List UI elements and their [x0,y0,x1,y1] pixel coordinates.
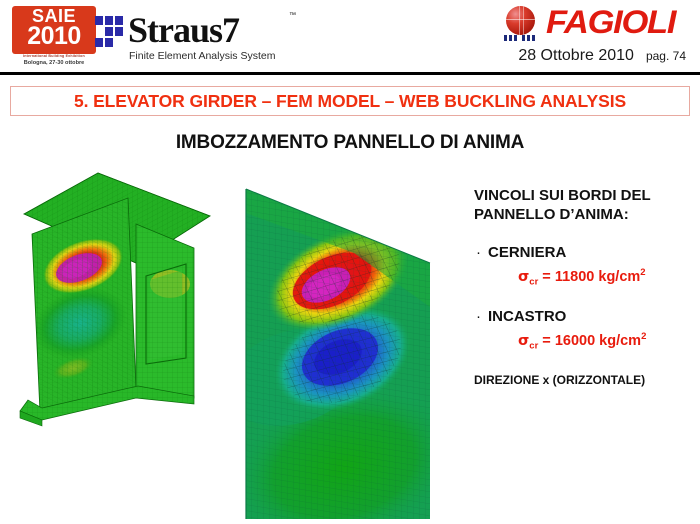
header-date-page: 28 Ottobre 2010pag. 74 [518,47,686,65]
sigma-subscript: cr [529,277,538,288]
header-date: 28 Ottobre 2010 [518,47,634,64]
sigma-unit: kg/cm [599,333,641,349]
sigma-symbol: σ [518,333,529,349]
constraints-heading-line1: VINCOLI SUI BORDI DEL [474,186,694,205]
saie-logo-subtitle: International Building Exhibition [12,54,96,58]
slide-title-box: 5. ELEVATOR GIRDER – FEM MODEL – WEB BUC… [10,86,690,116]
sigma-symbol: σ [518,269,529,285]
globe-base-icon [504,35,538,41]
fem-box-girder-3d [18,168,218,430]
sigma-value: 11800 [555,269,595,285]
fagioli-name: FAGIOLI [546,4,675,41]
list-item: · CERNIERA [474,244,694,262]
direction-note: DIREZIONE x (ORIZZONTALE) [474,373,694,387]
straus7-tagline: Finite Element Analysis System [129,50,275,62]
globe-icon [506,6,535,35]
sigma-cr-value-cerniera: σcr = 11800 kg/cm2 [518,267,694,288]
slide-header: SAIE 2010 International Building Exhibit… [0,0,700,74]
sigma-unit-exponent: 2 [640,267,645,278]
straus7-name: Straus7 [128,9,239,51]
fem-web-panel-svg [234,167,434,519]
header-page-number: pag. 74 [646,49,686,63]
sigma-subscript: cr [529,340,538,351]
fem-web-panel-closeup [234,167,434,519]
list-item: · INCASTRO [474,308,694,326]
saie-logo-year: 2010 [12,23,96,49]
straus7-logo: Straus7 ™ Finite Element Analysis System [95,8,315,68]
bullet-icon: · [474,308,488,326]
equals-sign: = [538,269,555,285]
sigma-unit-exponent: 2 [641,331,646,342]
constraints-panel: VINCOLI SUI BORDI DEL PANNELLO D’ANIMA: … [474,186,694,387]
saie-logo: SAIE 2010 International Building Exhibit… [12,6,96,68]
slide-root: SAIE 2010 International Building Exhibit… [0,0,700,524]
page-title: 5. ELEVATOR GIRDER – FEM MODEL – WEB BUC… [74,91,626,112]
constraints-heading: VINCOLI SUI BORDI DEL PANNELLO D’ANIMA: [474,186,694,224]
constraint-label-incastro: INCASTRO [488,308,566,326]
fem-box-girder-svg [18,168,218,430]
bullet-icon: · [474,244,488,262]
trademark-icon: ™ [289,12,296,19]
constraints-heading-line2: PANNELLO D’ANIMA: [474,205,694,224]
straus7-grid-icon [95,16,125,48]
constraint-label-cerniera: CERNIERA [488,244,566,262]
sigma-unit: kg/cm [598,269,640,285]
saie-logo-location: Bologna, 27-30 ottobre [12,60,96,66]
sigma-cr-value-incastro: σcr = 16000 kg/cm2 [518,331,694,352]
sigma-value: 16000 [555,333,595,349]
slide-subtitle: IMBOZZAMENTO PANNELLO DI ANIMA [0,132,700,154]
header-divider [0,72,700,75]
equals-sign: = [538,333,555,349]
fagioli-logo: FAGIOLI [490,4,690,44]
